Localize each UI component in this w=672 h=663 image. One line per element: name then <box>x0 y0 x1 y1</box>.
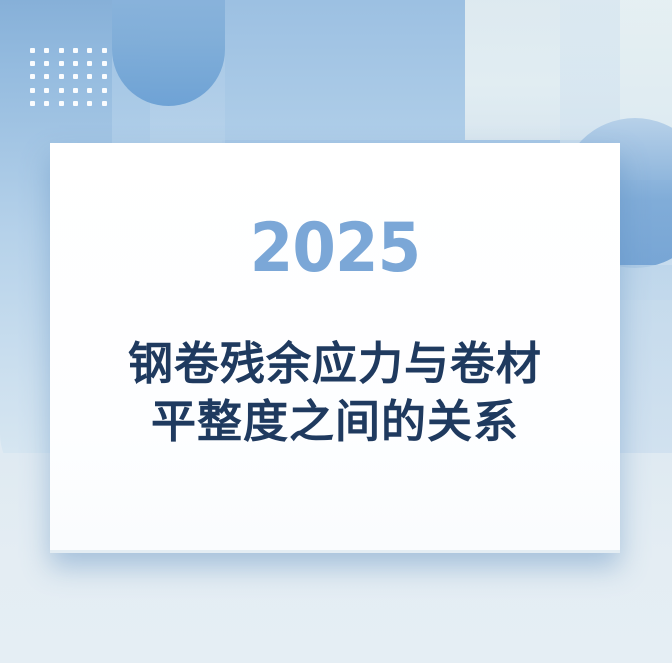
content-card: 2025 钢卷残余应力与卷材 平整度之间的关系 <box>50 143 620 550</box>
page-title: 钢卷残余应力与卷材 平整度之间的关系 <box>78 335 592 450</box>
page-title-line-2: 平整度之间的关系 <box>78 393 592 451</box>
dot-grid-decoration <box>30 48 116 114</box>
poster-canvas: 2025 钢卷残余应力与卷材 平整度之间的关系 <box>0 0 672 663</box>
year-label: 2025 <box>73 215 597 283</box>
page-title-line-1: 钢卷残余应力与卷材 <box>78 335 592 393</box>
